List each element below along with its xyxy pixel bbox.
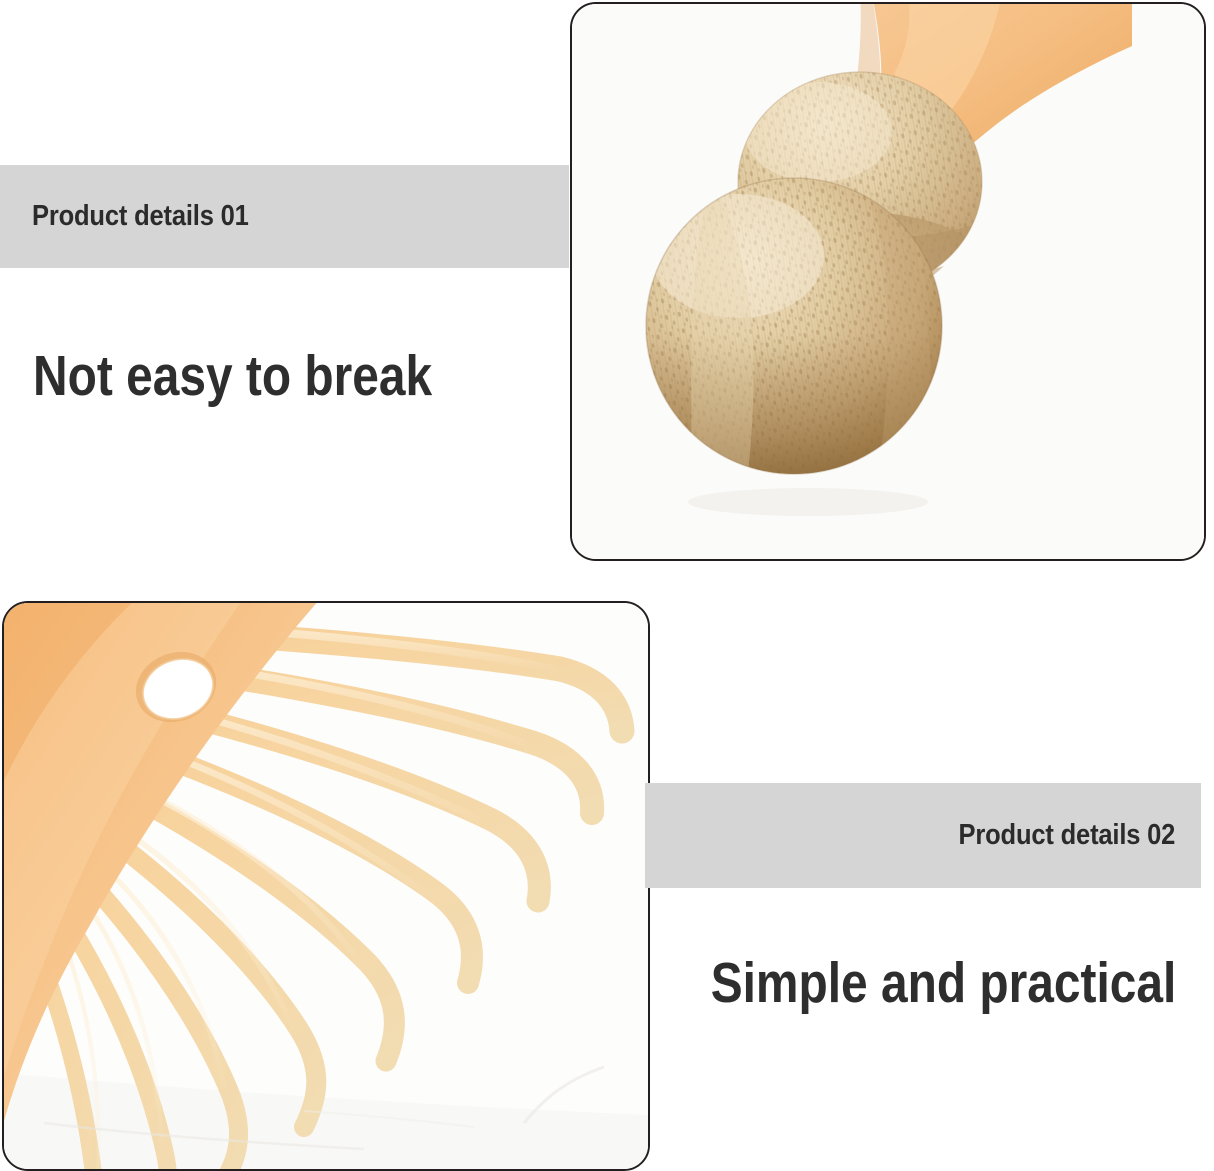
plastic-fan-claw-illustration: [4, 603, 648, 1169]
photo-bottom-inner: [4, 603, 648, 1169]
product-details-02-band: Product details 02: [645, 783, 1201, 888]
product-details-02-label: Product details 02: [958, 819, 1175, 852]
plastic-fan-claw-massager-photo: [2, 601, 650, 1171]
product-details-01-band: Product details 01: [0, 165, 569, 268]
photo-top-inner: [572, 4, 1204, 559]
wooden-ball-illustration: [572, 4, 1204, 559]
product-details-01-label: Product details 01: [32, 200, 249, 233]
product-detail-page: Product details 01 Not easy to break: [0, 0, 1214, 1171]
headline-simple-and-practical: Simple and practical: [710, 955, 1176, 1012]
headline-not-easy-to-break: Not easy to break: [33, 348, 432, 405]
wooden-double-ball-massage-head-photo: [570, 2, 1206, 561]
